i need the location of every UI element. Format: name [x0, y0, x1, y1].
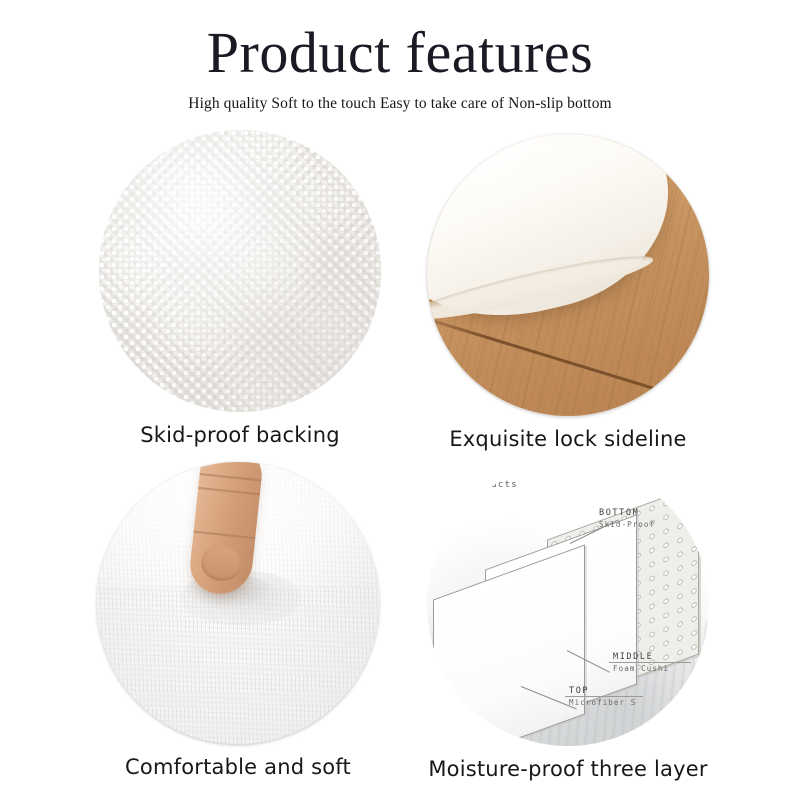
finger-crease — [200, 473, 262, 481]
feature-card-moisture-proof-three-layer: roducts BOTTOM Skid-Proof MIDDLE Foam Cu… — [418, 464, 718, 781]
layer-label-top-sub: Microfiber S — [569, 698, 636, 707]
layer-label-middle-name: MIDDLE — [613, 652, 669, 662]
feature-image-moisture-proof-three-layer: roducts BOTTOM Skid-Proof MIDDLE Foam Cu… — [427, 464, 709, 746]
feature-image-skid-proof-backing — [99, 130, 381, 412]
finger-crease — [193, 531, 255, 539]
mat-highlight — [427, 134, 597, 230]
feature-image-exquisite-lock-sideline — [427, 134, 709, 416]
feature-caption: Moisture-proof three layer — [418, 757, 718, 781]
feature-caption: Exquisite lock sideline — [418, 427, 718, 451]
finger-press-photo — [97, 462, 379, 744]
layer-label-middle-rule — [609, 662, 691, 663]
mesh-texture-photo — [99, 130, 381, 412]
feature-caption: Skid-proof backing — [90, 423, 390, 447]
layer-label-bottom: BOTTOM Skid-Proof — [599, 508, 655, 529]
layer-label-top-name: TOP — [569, 686, 636, 696]
layer-label-top-rule — [565, 696, 643, 697]
feature-image-comfortable-and-soft — [97, 462, 379, 744]
page-subtitle: High quality Soft to the touch Easy to t… — [0, 82, 800, 113]
mesh-highlight — [99, 130, 381, 412]
feature-caption: Comfortable and soft — [88, 755, 388, 779]
feature-card-skid-proof-backing: Skid-proof backing — [90, 130, 390, 447]
page-title: Product features — [0, 0, 800, 82]
three-layer-diagram-photo: roducts BOTTOM Skid-Proof MIDDLE Foam Cu… — [427, 464, 709, 746]
finger-crease — [198, 487, 260, 495]
layer-label-bottom-sub: Skid-Proof — [599, 520, 655, 529]
page-header: Product features High quality Soft to th… — [0, 0, 800, 113]
feature-card-exquisite-lock-sideline: Exquisite lock sideline — [418, 134, 718, 451]
mat-on-wood-photo — [427, 134, 709, 416]
diagram-watermark: roducts — [471, 480, 518, 490]
finger-tip — [200, 545, 243, 583]
layer-label-middle-sub: Foam Cushi — [613, 664, 669, 673]
product-features-page: Product features High quality Soft to th… — [0, 0, 800, 800]
layer-label-bottom-name: BOTTOM — [599, 508, 655, 518]
feature-card-comfortable-and-soft: Comfortable and soft — [88, 462, 388, 779]
